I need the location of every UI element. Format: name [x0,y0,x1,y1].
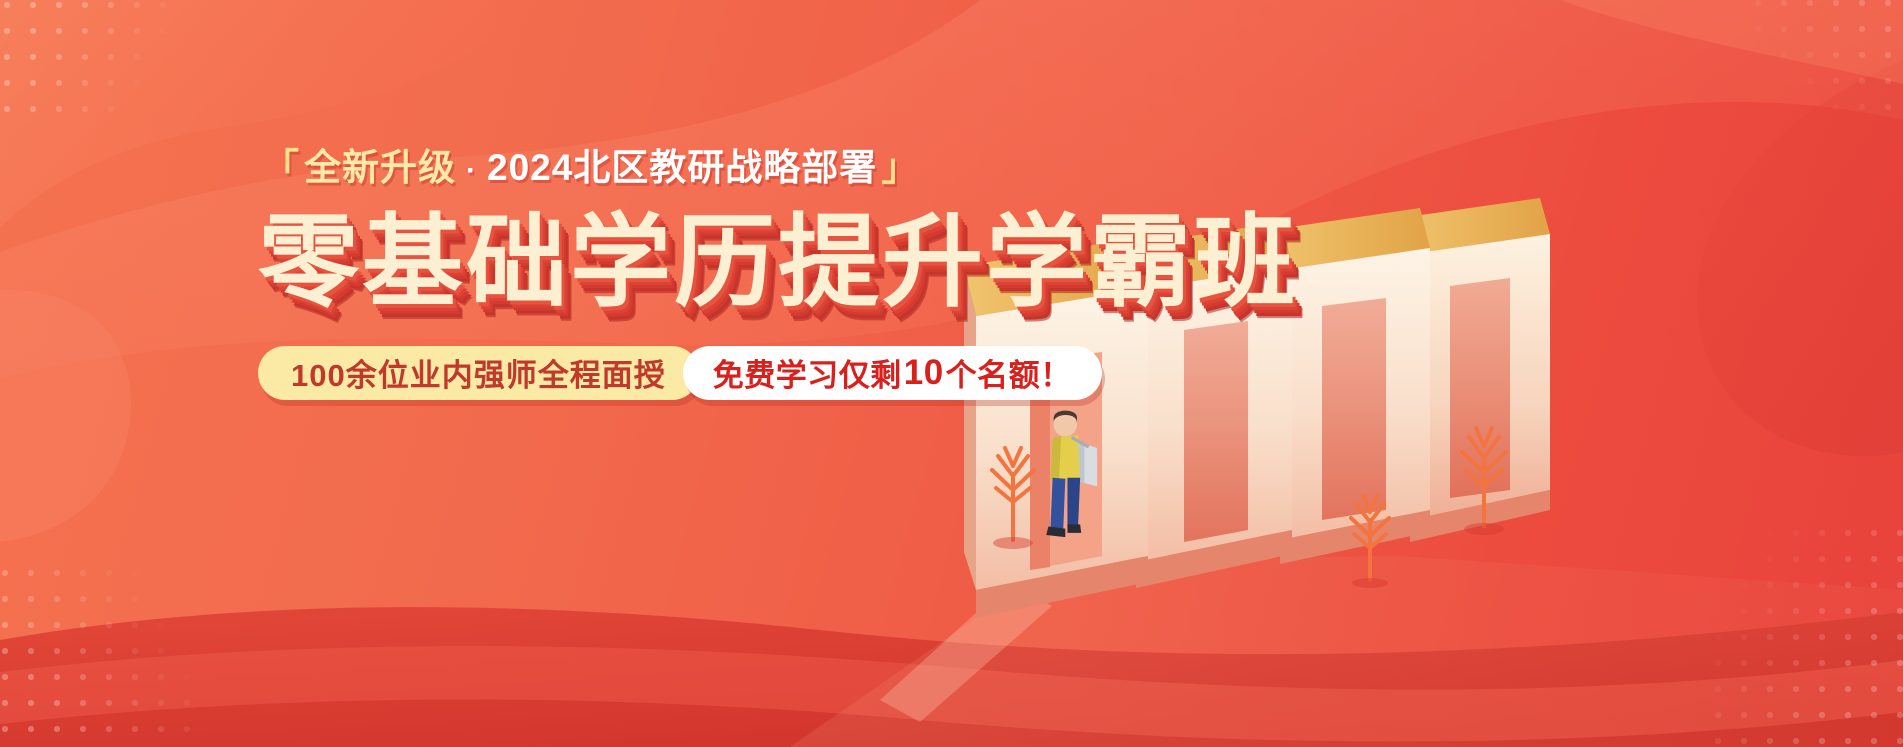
badge-quota-count: 10 [902,353,946,393]
badge-teachers-label: 100余位业内强师全程面授 [291,350,666,395]
subtitle-rest: 2024北区教研战略部署 [487,147,877,188]
walking-student-figure [1046,411,1097,537]
dot-grid-bottom-right [1705,520,1903,747]
badge-quota-prefix: 免费学习仅剩 [713,350,902,395]
dot-grid-bottom-left [0,560,202,747]
subtitle-separator: · [456,154,487,187]
badge-free-quota[interactable]: 免费学习仅剩10个名额！ [683,346,1102,400]
banner-copy: 「全新升级·2024北区教研战略部署」 零基础学历提升学霸班 100余位业内强师… [258,148,1018,400]
bracket-open-icon: 「 [258,147,304,188]
badge-teachers: 100余位业内强师全程面授 [258,346,699,400]
dot-grid-top-right [1745,0,1903,110]
tree-right [1440,412,1528,536]
tree-left [970,430,1056,550]
subtitle-highlight: 全新升级 [304,147,456,188]
tree-middle [1330,480,1410,588]
bracket-close-icon: 」 [877,147,923,188]
banner-subtitle: 「全新升级·2024北区教研战略部署」 [258,148,1018,189]
badge-quota-suffix: 个名额！ [946,350,1072,395]
book-arch-4 [1400,198,1550,542]
promotional-banner: 「全新升级·2024北区教研战略部署」 零基础学历提升学霸班 100余位业内强师… [0,0,1903,747]
page-title: 零基础学历提升学霸班 [258,211,1018,316]
badge-row: 100余位业内强师全程面授 免费学习仅剩10个名额！ [258,346,1018,400]
dot-grid-top-left [0,0,190,124]
